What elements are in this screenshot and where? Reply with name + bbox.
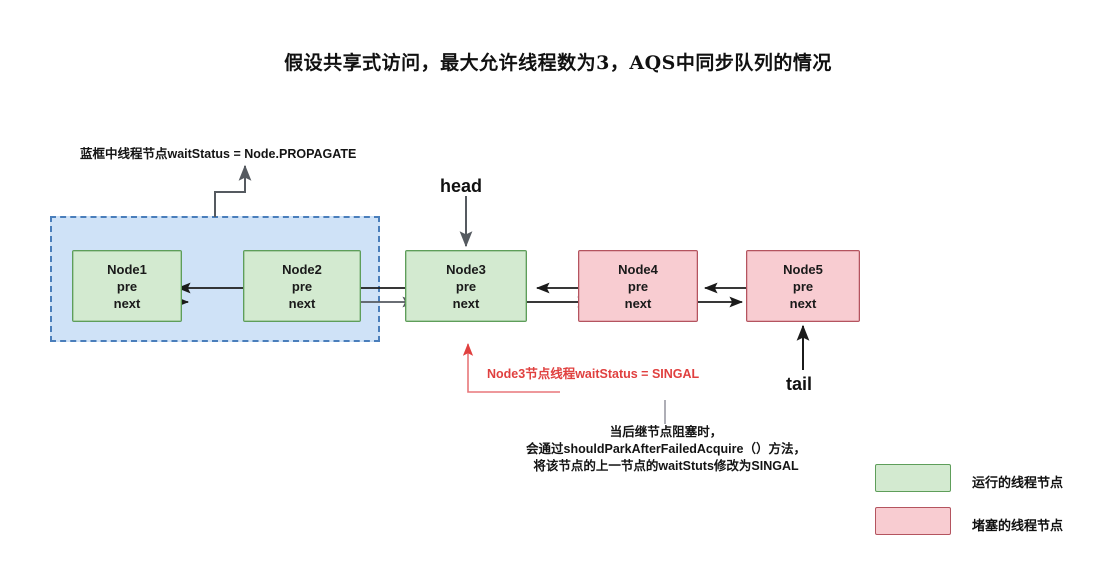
queue-node-node1[interactable]: Node1 pre next bbox=[72, 250, 182, 322]
node-pre-field: pre bbox=[793, 278, 813, 295]
legend-item-running bbox=[875, 464, 951, 492]
queue-node-node5[interactable]: Node5 pre next bbox=[746, 250, 860, 322]
node-name: Node5 bbox=[783, 261, 823, 278]
legend-swatch-blocked bbox=[875, 507, 951, 535]
queue-node-node2[interactable]: Node2 pre next bbox=[243, 250, 361, 322]
legend-swatch-running bbox=[875, 464, 951, 492]
node-name: Node1 bbox=[107, 261, 147, 278]
explanation-line-3: 将该节点的上一节点的waitStuts修改为SINGAL bbox=[496, 458, 836, 475]
node-next-field: next bbox=[625, 295, 652, 312]
node-next-field: next bbox=[790, 295, 817, 312]
node-name: Node4 bbox=[618, 261, 658, 278]
node-pre-field: pre bbox=[292, 278, 312, 295]
queue-node-node4[interactable]: Node4 pre next bbox=[578, 250, 698, 322]
node-next-field: next bbox=[453, 295, 480, 312]
legend-label-blocked: 堵塞的线程节点 bbox=[972, 515, 1063, 534]
node-next-field: next bbox=[289, 295, 316, 312]
queue-node-node3[interactable]: Node3 pre next bbox=[405, 250, 527, 322]
diagram-canvas: 假设共享式访问，最大允许线程数为3，AQS中同步队列的情况 bbox=[0, 0, 1116, 582]
node-pre-field: pre bbox=[456, 278, 476, 295]
explanation-line-2: 会通过shouldParkAfterFailedAcquire（）方法， bbox=[496, 441, 836, 458]
node-pre-field: pre bbox=[117, 278, 137, 295]
propagate-note-connector bbox=[215, 166, 245, 217]
legend-label-running: 运行的线程节点 bbox=[972, 472, 1063, 491]
propagate-annotation: 蓝框中线程节点waitStatus = Node.PROPAGATE bbox=[80, 143, 356, 162]
signal-annotation: Node3节点线程waitStatus = SINGAL bbox=[487, 363, 699, 382]
node-pre-field: pre bbox=[628, 278, 648, 295]
node-name: Node2 bbox=[282, 261, 322, 278]
explanation-line-1: 当后继节点阻塞时， bbox=[496, 424, 836, 441]
head-pointer-label: head bbox=[440, 176, 482, 197]
legend-item-blocked bbox=[875, 507, 951, 535]
shouldpark-explanation: 当后继节点阻塞时， 会通过shouldParkAfterFailedAcquir… bbox=[496, 424, 836, 475]
page-title: 假设共享式访问，最大允许线程数为3，AQS中同步队列的情况 bbox=[0, 48, 1116, 75]
node-next-field: next bbox=[114, 295, 141, 312]
tail-pointer-label: tail bbox=[786, 374, 812, 395]
node-name: Node3 bbox=[446, 261, 486, 278]
